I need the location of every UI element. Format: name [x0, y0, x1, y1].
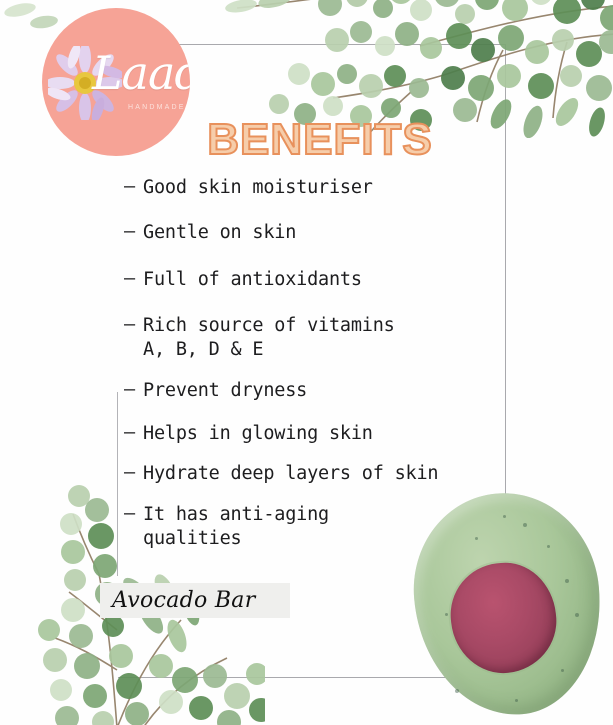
bullet-dash-icon: –: [124, 221, 143, 242]
list-item-label: Good skin moisturiser: [143, 176, 373, 200]
list-item: – Hydrate deep layers of skin: [124, 462, 504, 486]
product-name-plate: Avocado Bar: [100, 583, 290, 618]
list-item: – Rich source of vitamins A, B, D & E: [124, 314, 504, 362]
bullet-dash-icon: –: [124, 503, 143, 524]
bullet-dash-icon: –: [124, 462, 143, 483]
bullet-dash-icon: –: [124, 314, 143, 335]
list-item-label: It has anti-aging qualities: [143, 503, 329, 551]
list-item: – Helps in glowing skin: [124, 422, 504, 446]
eucalyptus-leaf-tip-left: [0, 0, 60, 50]
list-item: – Prevent dryness: [124, 379, 504, 403]
bullet-dash-icon: –: [124, 176, 143, 197]
product-name-label: Avocado Bar: [100, 588, 256, 613]
frame-border-left: [117, 392, 118, 576]
logo-tagline: HANDMADES: [128, 104, 190, 111]
list-item-label: Hydrate deep layers of skin: [143, 462, 438, 486]
brand-logo-badge[interactable]: Laadli HANDMADES: [42, 8, 190, 156]
list-item-label: Gentle on skin: [143, 221, 296, 245]
list-item-label: Rich source of vitamins A, B, D & E: [143, 314, 395, 362]
bullet-dash-icon: –: [124, 379, 143, 400]
list-item-label: Prevent dryness: [143, 379, 307, 403]
list-item: – Gentle on skin: [124, 221, 504, 245]
avocado-soap-image: [415, 493, 600, 715]
bullet-dash-icon: –: [124, 268, 143, 289]
poster-canvas: Laadli HANDMADES BENEFITS – Good skin mo…: [0, 0, 613, 725]
list-item-label: Helps in glowing skin: [143, 422, 373, 446]
list-item: – Full of antioxidants: [124, 268, 504, 292]
page-title: BENEFITS: [200, 116, 440, 164]
list-item-label: Full of antioxidants: [143, 268, 362, 292]
bullet-dash-icon: –: [124, 422, 143, 443]
list-item: – Good skin moisturiser: [124, 176, 504, 200]
